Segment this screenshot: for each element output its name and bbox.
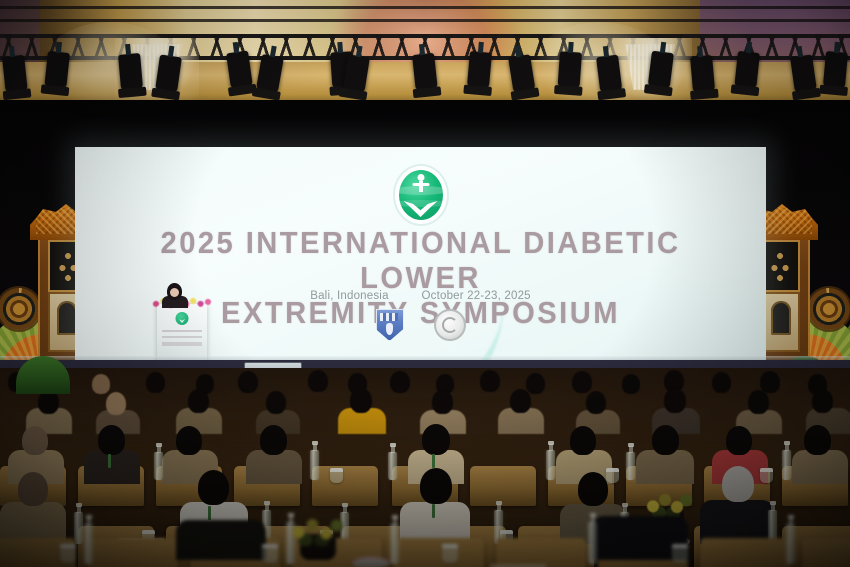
emblem-figure-body <box>419 181 423 192</box>
audience-head <box>722 466 754 502</box>
water-bottle <box>390 524 399 564</box>
water-bottle <box>782 450 791 480</box>
chair <box>470 466 536 506</box>
drinking-glass <box>760 468 773 483</box>
stage-light <box>2 55 28 93</box>
audience-head <box>526 373 545 394</box>
gate-niche <box>760 292 800 352</box>
water-bottle <box>84 524 93 564</box>
flower-blooms <box>288 516 346 546</box>
stage-light <box>690 55 715 93</box>
audience-head <box>726 426 752 455</box>
water-bottle <box>388 452 397 480</box>
water-bottle <box>74 512 83 544</box>
audience-head <box>308 370 328 392</box>
chair <box>88 538 178 567</box>
audience-head <box>586 391 606 414</box>
stage-light <box>823 51 848 89</box>
stage-light <box>467 51 492 89</box>
audience-head <box>432 390 453 414</box>
audience-head <box>760 371 780 393</box>
drinking-glass <box>262 544 278 563</box>
audience-head <box>804 425 831 455</box>
flower-blooms <box>644 492 694 518</box>
audience-head <box>570 426 596 455</box>
audience-head <box>238 371 258 393</box>
emblem-figure-head <box>417 174 424 181</box>
candy-bowl <box>352 556 390 567</box>
audience-head <box>390 371 410 393</box>
water-bottle <box>626 452 635 480</box>
podium-text-block <box>162 330 202 346</box>
symposium-emblem-icon <box>395 166 447 224</box>
lanyard <box>108 454 111 468</box>
stage-light <box>596 55 622 93</box>
audience-head <box>664 388 686 413</box>
audience-head <box>572 371 592 393</box>
audience-head <box>578 472 608 506</box>
audience-head <box>350 388 372 413</box>
audience-head <box>146 372 165 393</box>
conference-hall-photo: 2025 INTERNATIONAL DIABETIC LOWER EXTREM… <box>0 0 850 567</box>
drinking-glass <box>442 544 458 563</box>
stage-light <box>558 51 582 88</box>
screen-title-line1: 2025 INTERNATIONAL DIABETIC LOWER <box>96 225 746 295</box>
lanyard <box>432 504 435 518</box>
gray-circular-seal-icon <box>434 309 466 341</box>
speaker-face <box>170 288 179 297</box>
water-bottle <box>154 452 163 480</box>
lanyard <box>432 454 435 468</box>
audience-head <box>510 389 531 413</box>
lanyard <box>208 506 211 520</box>
audience-head <box>266 391 286 414</box>
chair <box>700 538 790 567</box>
audience-torso <box>176 520 266 560</box>
audience-head <box>176 426 202 455</box>
audience-head <box>480 370 500 392</box>
audience-head <box>652 425 679 455</box>
stage-light <box>118 53 143 91</box>
audience-head <box>622 374 640 394</box>
chair <box>802 538 850 567</box>
drinking-glass <box>672 544 688 563</box>
gate-medallion-icon <box>0 288 40 330</box>
chair <box>496 538 586 567</box>
upper-truss <box>0 6 850 22</box>
audience-head <box>18 472 48 506</box>
audience-head <box>748 390 769 414</box>
screen-dates: October 22-23, 2025 <box>421 290 530 302</box>
audience-head <box>712 372 731 393</box>
audience-head <box>812 389 833 413</box>
audience-head <box>422 424 450 455</box>
chair <box>312 466 378 506</box>
drinking-glass <box>330 468 343 483</box>
water-bottle <box>786 524 795 564</box>
gate-medallion-icon <box>808 288 850 330</box>
audience-torso <box>636 450 694 484</box>
gate-carved-panel <box>760 240 800 292</box>
drinking-glass <box>60 544 76 563</box>
blue-shield-badge-icon <box>376 309 404 341</box>
water-bottle <box>546 450 555 480</box>
audience-head <box>98 425 125 455</box>
stage-light <box>412 53 438 91</box>
audience-torso <box>84 450 140 484</box>
audience-head <box>198 470 229 505</box>
stage-light <box>734 51 760 89</box>
audience-head <box>92 374 110 394</box>
chair <box>394 538 484 567</box>
audience-head <box>22 426 48 455</box>
audience-head <box>188 389 209 413</box>
stage-light <box>44 51 70 89</box>
podium-emblem-icon <box>176 312 189 325</box>
audience-head <box>260 425 287 455</box>
audience-torso <box>246 450 302 484</box>
water-bottle <box>588 522 597 564</box>
audience-head <box>420 468 452 504</box>
water-bottle <box>310 450 319 480</box>
audience-head <box>106 392 126 415</box>
audience-area <box>0 368 850 567</box>
drinking-glass <box>606 468 619 483</box>
audience-torso <box>792 450 848 484</box>
screen-location: Bali, Indonesia <box>310 290 388 302</box>
ceiling-area <box>0 0 850 108</box>
stage-light <box>648 51 674 89</box>
